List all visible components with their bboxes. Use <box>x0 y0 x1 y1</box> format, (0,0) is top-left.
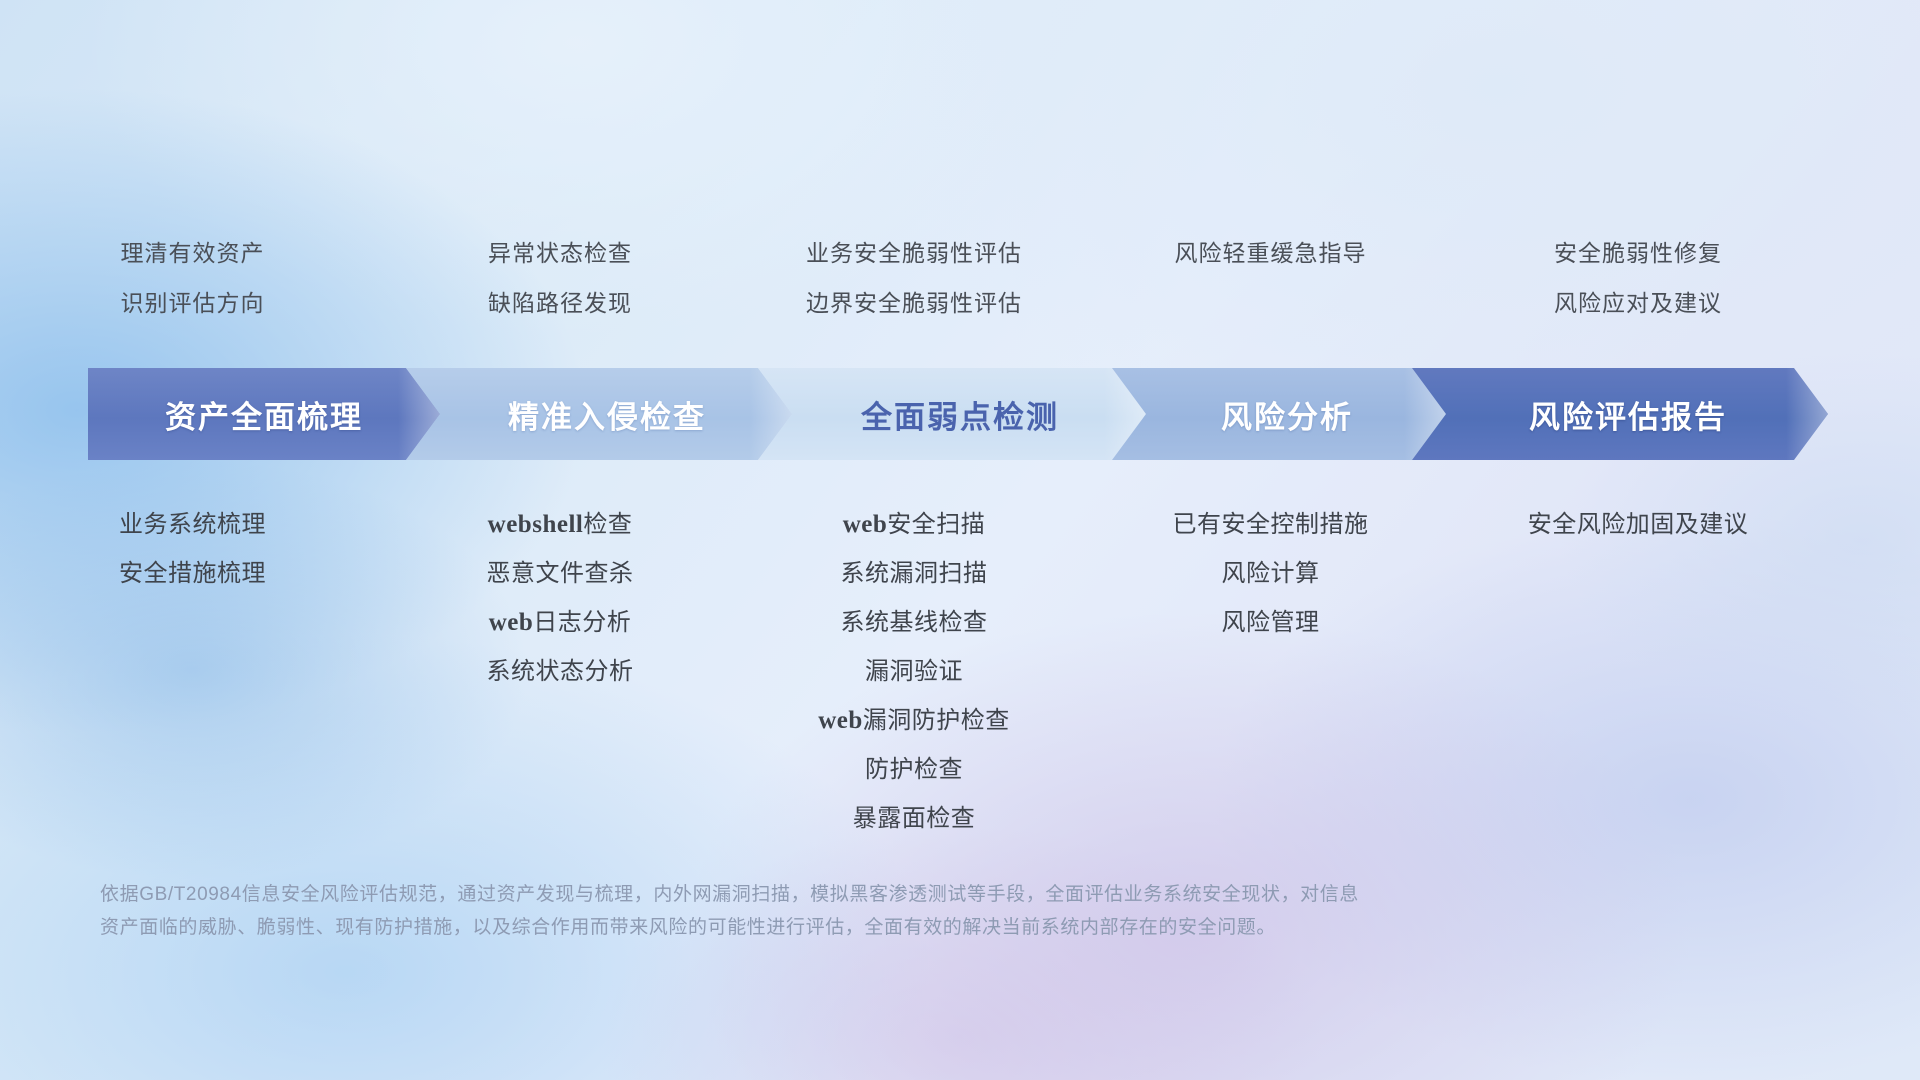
bottom-item: 安全风险加固及建议 <box>1528 500 1749 549</box>
bottom-column-stage-4: 已有安全控制措施 风险计算 风险管理 <box>1093 500 1448 647</box>
bottom-column-stage-5: 安全风险加固及建议 <box>1448 500 1828 549</box>
bottom-item: web漏洞防护检查 <box>818 696 1010 745</box>
risk-assessment-flow-diagram: 理清有效资产 识别评估方向 异常状态检查 缺陷路径发现 业务安全脆弱性评估 边界… <box>0 0 1920 1080</box>
stage-label-3: 全面弱点检测 <box>861 392 1059 437</box>
bottom-item-suffix: 日志分析 <box>533 609 631 636</box>
top-caption: 风险应对及建议 <box>1448 278 1828 328</box>
bottom-item: 系统状态分析 <box>487 647 634 696</box>
top-caption: 风险轻重缓急指导 <box>1093 228 1448 278</box>
top-caption: 安全脆弱性修复 <box>1448 228 1828 278</box>
stage-chevron-2[interactable]: 精准入侵检查 <box>406 368 792 460</box>
stage-chevron-1[interactable]: 资产全面梳理 <box>88 368 440 460</box>
bottom-item: 漏洞验证 <box>865 647 963 696</box>
bottom-column-stage-1: 业务系统梳理 安全措施梳理 <box>0 500 385 598</box>
stage-label-2: 精准入侵检查 <box>508 392 706 437</box>
bottom-item: 防护检查 <box>865 745 963 794</box>
top-caption: 理清有效资产 <box>0 228 385 278</box>
stage-label-5: 风险评估报告 <box>1529 392 1727 437</box>
bottom-column-stage-2: webshell检查 恶意文件查杀 web日志分析 系统状态分析 <box>385 500 735 696</box>
stage-chevron-4[interactable]: 风险分析 <box>1112 368 1446 460</box>
bottom-column-stage-3: web安全扫描 系统漏洞扫描 系统基线检查 漏洞验证 web漏洞防护检查 防护检… <box>735 500 1093 843</box>
bottom-item: web安全扫描 <box>843 500 986 549</box>
top-captions-stage-3: 业务安全脆弱性评估 边界安全脆弱性评估 <box>735 228 1093 328</box>
bottom-item-suffix: 安全扫描 <box>887 511 985 538</box>
top-caption: 缺陷路径发现 <box>385 278 735 328</box>
top-caption: 业务安全脆弱性评估 <box>735 228 1093 278</box>
top-captions-stage-1: 理清有效资产 识别评估方向 <box>0 228 385 328</box>
top-caption: 异常状态检查 <box>385 228 735 278</box>
stage-chevron-banner: 资产全面梳理 精准入侵检查 全面弱点检测 风险分析 风险评估报告 <box>88 368 1832 460</box>
bottom-item: 已有安全控制措施 <box>1173 500 1369 549</box>
stage-label-4: 风险分析 <box>1221 392 1353 437</box>
footer-note: 依据GB/T20984信息安全风险评估规范，通过资产发现与梳理，内外网漏洞扫描，… <box>100 878 1640 944</box>
bottom-item: 风险管理 <box>1222 598 1320 647</box>
top-captions-stage-5: 安全脆弱性修复 风险应对及建议 <box>1448 228 1828 328</box>
stage-chevron-5[interactable]: 风险评估报告 <box>1412 368 1828 460</box>
top-caption: 识别评估方向 <box>0 278 385 328</box>
stage-chevron-3[interactable]: 全面弱点检测 <box>758 368 1146 460</box>
top-captions-stage-4: 风险轻重缓急指导 <box>1093 228 1448 328</box>
bottom-item: 安全措施梳理 <box>119 549 266 598</box>
bottom-item: 恶意文件查杀 <box>487 549 634 598</box>
bottom-item-suffix: 漏洞防护检查 <box>863 707 1010 734</box>
bottom-item: 业务系统梳理 <box>119 500 266 549</box>
top-caption: 边界安全脆弱性评估 <box>735 278 1093 328</box>
bottom-item: 暴露面检查 <box>853 794 976 843</box>
footer-note-line-1: 依据GB/T20984信息安全风险评估规范，通过资产发现与梳理，内外网漏洞扫描，… <box>100 878 1640 911</box>
bottom-item: webshell检查 <box>488 500 633 549</box>
bottom-item: 风险计算 <box>1222 549 1320 598</box>
bottom-item: 系统基线检查 <box>841 598 988 647</box>
bottom-item: web日志分析 <box>489 598 632 647</box>
top-caption-row: 理清有效资产 识别评估方向 异常状态检查 缺陷路径发现 业务安全脆弱性评估 边界… <box>0 228 1920 328</box>
footer-note-line-2: 资产面临的威胁、脆弱性、现有防护措施，以及综合作用而带来风险的可能性进行评估，全… <box>100 911 1640 944</box>
bottom-item-columns: 业务系统梳理 安全措施梳理 webshell检查 恶意文件查杀 web日志分析 … <box>0 500 1920 843</box>
top-captions-stage-2: 异常状态检查 缺陷路径发现 <box>385 228 735 328</box>
stage-label-1: 资产全面梳理 <box>165 392 363 437</box>
bottom-item: 系统漏洞扫描 <box>841 549 988 598</box>
bottom-item-suffix: 检查 <box>583 511 632 538</box>
